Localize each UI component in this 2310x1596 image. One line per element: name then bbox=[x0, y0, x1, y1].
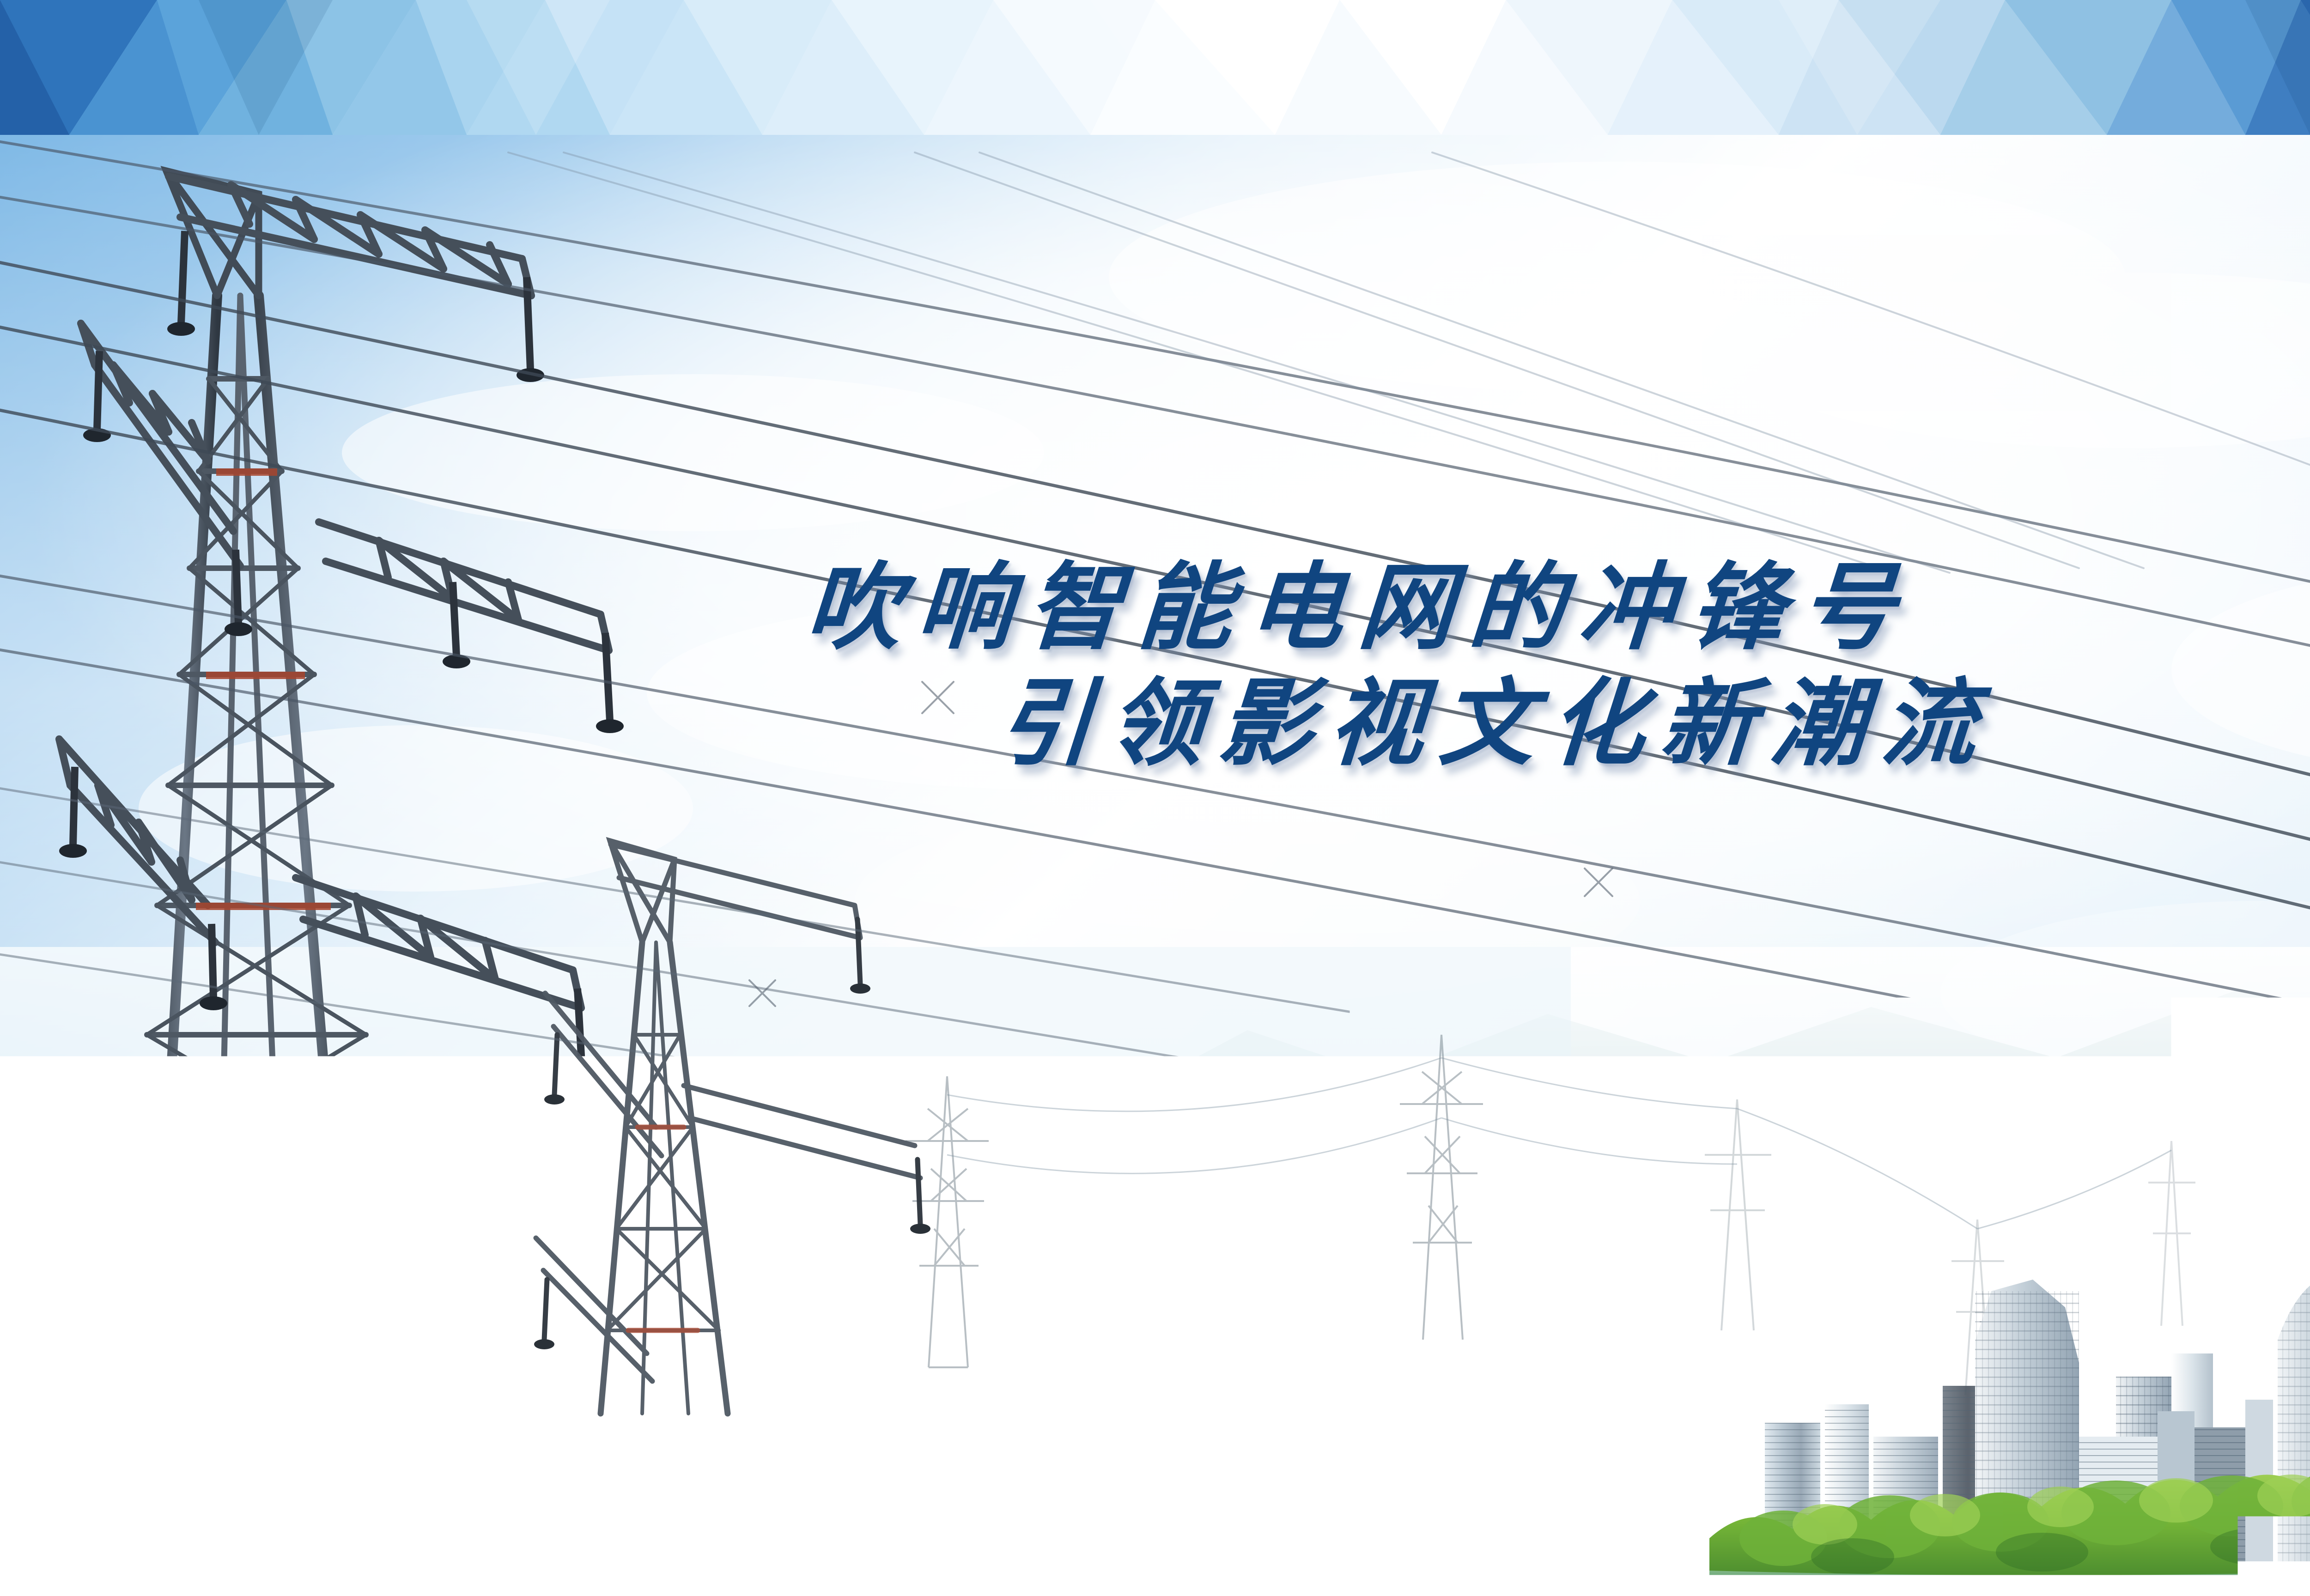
top-polygon-band bbox=[0, 0, 2310, 135]
scene-illustration bbox=[0, 0, 2310, 1596]
poster-canvas: 吹响智能电网的冲锋号 引领影视文化新潮流 bbox=[0, 0, 2310, 1596]
